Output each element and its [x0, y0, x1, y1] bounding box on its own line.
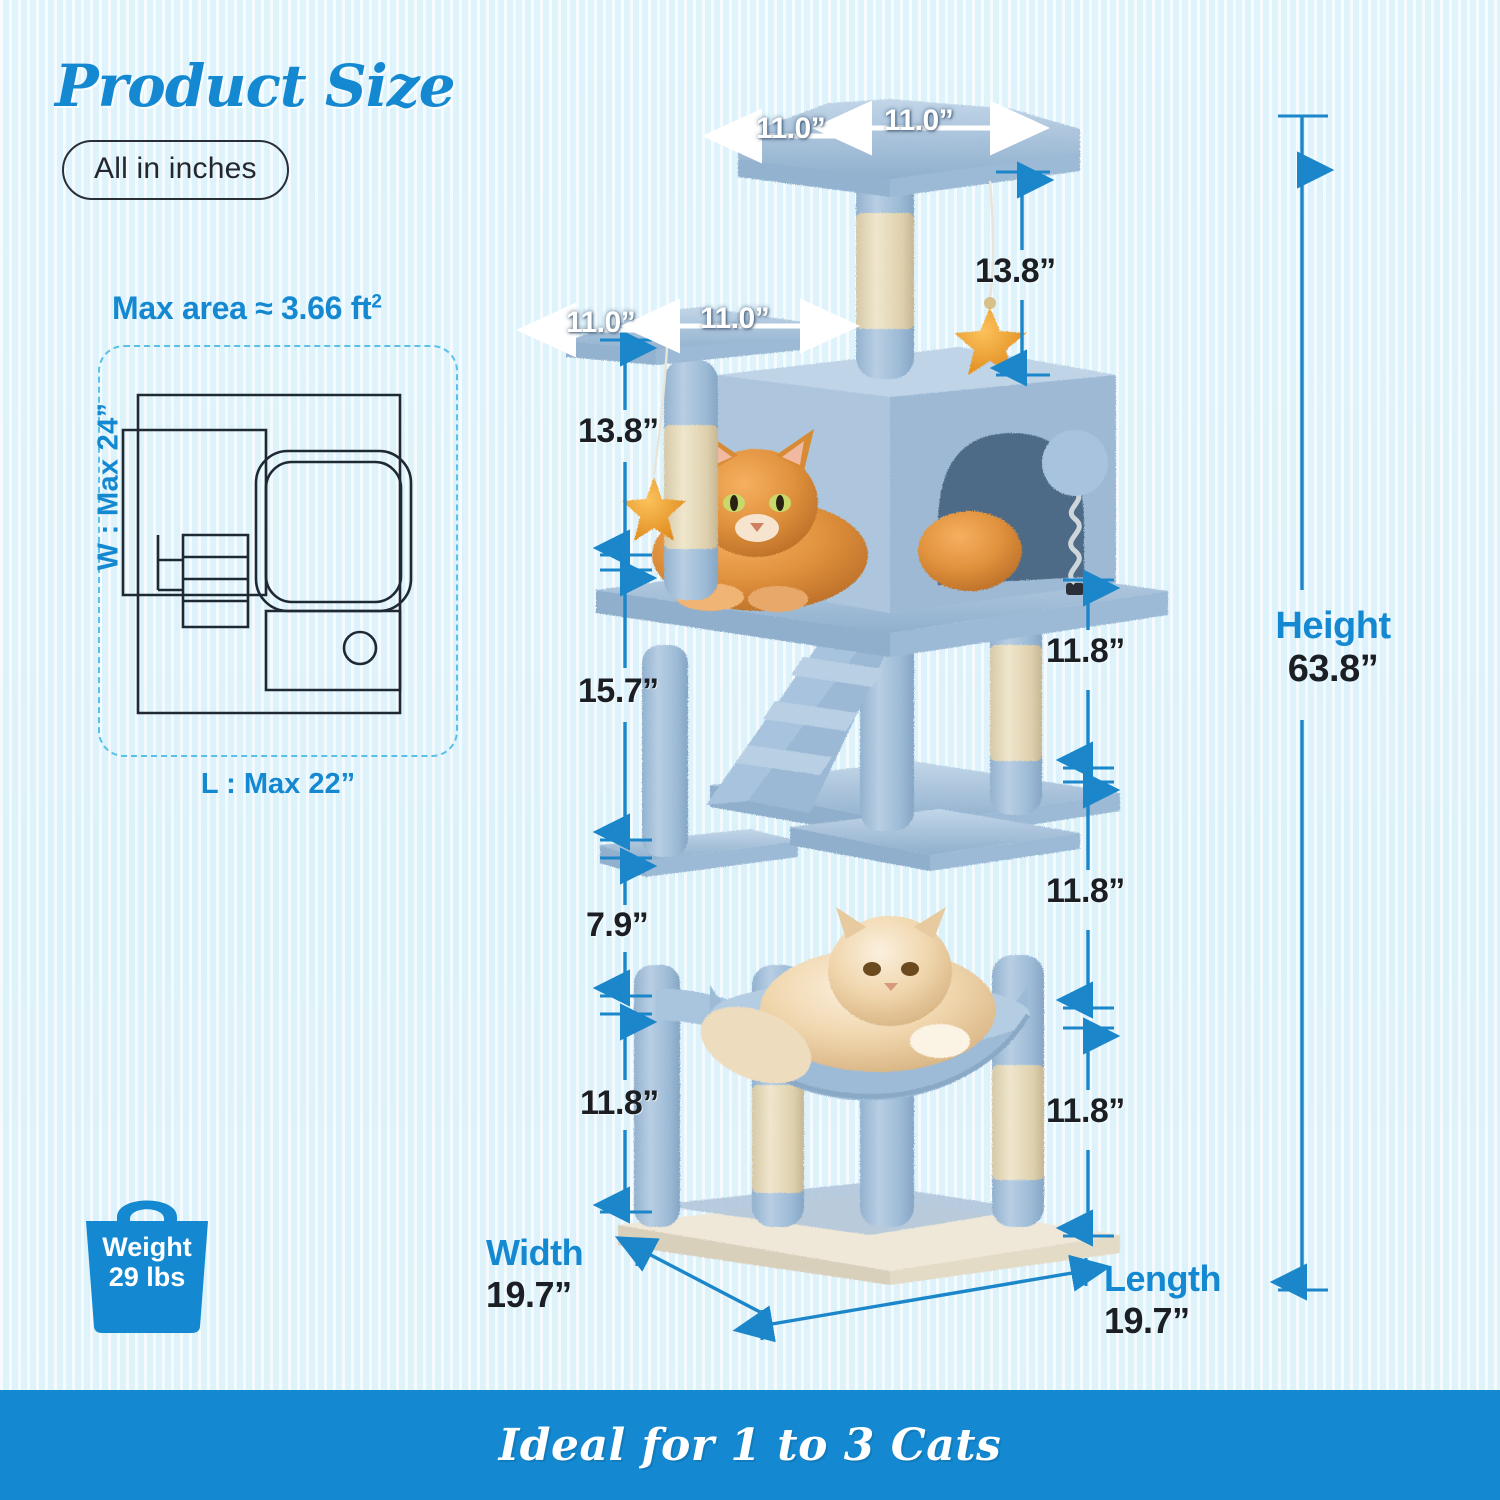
dim-second-perch-left: 11.0” [566, 306, 635, 340]
height-value-text: 63.8” [1228, 648, 1438, 691]
height-label-text: Height [1228, 605, 1438, 648]
base-width-label: Width 19.7” [486, 1232, 583, 1316]
weight-line-1: Weight [72, 1232, 222, 1262]
banner-text: Ideal for 1 to 3 Cats [499, 1420, 1002, 1471]
width-value-text: 19.7” [486, 1274, 583, 1316]
dim-left-mid-height: 15.7” [578, 672, 659, 711]
page-title: Product Size [55, 52, 455, 120]
weight-text: Weight 29 lbs [72, 1232, 222, 1292]
length-label-text: Length [1104, 1258, 1221, 1300]
max-area-exponent: 2 [371, 291, 381, 312]
max-area-label: Max area ≈ 3.66 ft2 [112, 290, 382, 327]
footprint-width-label: W : Max 24” [93, 372, 126, 602]
width-label-text: Width [486, 1232, 583, 1274]
dim-right-lower-height: 11.8” [1046, 1092, 1125, 1131]
base-length-label: Length 19.7” [1104, 1258, 1221, 1342]
dim-top-post-height: 13.8” [975, 252, 1056, 291]
bottom-banner: Ideal for 1 to 3 Cats [0, 1390, 1500, 1500]
infographic-stage: Product Size All in inches Max area ≈ 3.… [0, 0, 1500, 1500]
max-area-text: Max area ≈ 3.66 ft [112, 290, 371, 326]
dim-left-bottom-height: 11.8” [580, 1084, 659, 1123]
dim-second-perch-right: 11.0” [700, 302, 769, 336]
dim-right-mid-height: 11.8” [1046, 872, 1125, 911]
dim-second-post-height: 13.8” [578, 412, 659, 451]
dim-top-perch-left: 11.0” [756, 112, 825, 146]
footprint-length-label: L : Max 22” [98, 768, 458, 801]
overall-height-label: Height 63.8” [1228, 605, 1438, 691]
weight-line-2: 29 lbs [72, 1262, 222, 1292]
footprint-line-drawing [98, 345, 458, 757]
dim-right-upper-height: 11.8” [1046, 632, 1125, 671]
dim-left-small-height: 7.9” [586, 906, 648, 945]
length-value-text: 19.7” [1104, 1300, 1221, 1342]
units-pill: All in inches [62, 140, 289, 200]
dim-top-perch-right: 11.0” [884, 104, 953, 138]
